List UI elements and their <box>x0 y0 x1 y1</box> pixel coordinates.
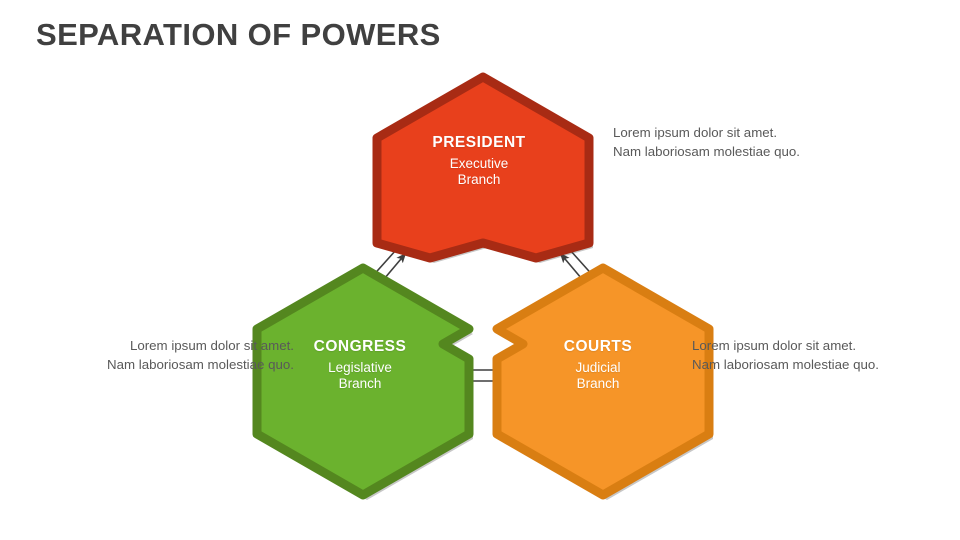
slide-canvas: SEPARATION OF POWERS <box>0 0 960 540</box>
president-hexagon <box>377 77 589 258</box>
caption-courts: Lorem ipsum dolor sit amet. Nam laborios… <box>692 337 882 375</box>
node-congress[interactable] <box>257 268 469 495</box>
node-courts[interactable] <box>497 268 709 495</box>
diagram-svg <box>0 0 960 540</box>
caption-president: Lorem ipsum dolor sit amet. Nam laborios… <box>613 124 803 162</box>
separation-of-powers-diagram: PRESIDENT Executive Branch CONGRESS Legi… <box>0 0 960 540</box>
caption-congress: Lorem ipsum dolor sit amet. Nam laborios… <box>104 337 294 375</box>
courts-hexagon <box>497 268 709 495</box>
congress-hexagon <box>257 268 469 495</box>
node-president[interactable] <box>377 77 589 258</box>
